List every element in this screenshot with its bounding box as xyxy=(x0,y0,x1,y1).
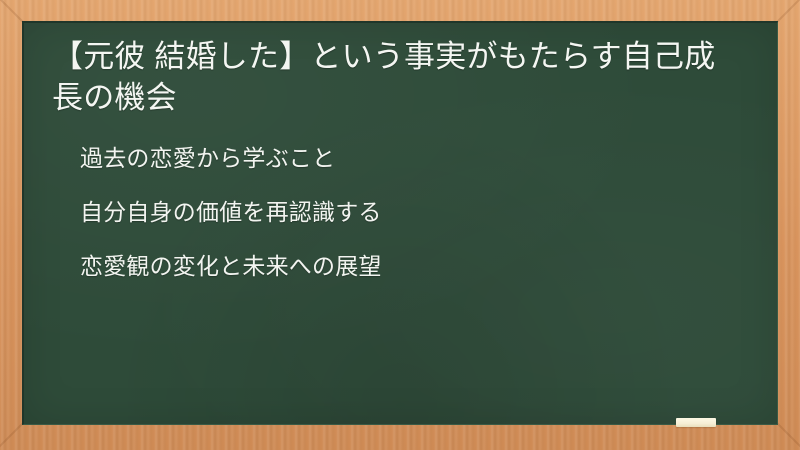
chalkboard-frame: 【元彼 結婚した】という事実がもたらす自己成長の機会 過去の恋愛から学ぶこと 自… xyxy=(0,0,800,450)
chalkboard-content: 【元彼 結婚した】という事実がもたらす自己成長の機会 過去の恋愛から学ぶこと 自… xyxy=(24,23,777,280)
chalkboard-surface: 【元彼 結婚した】という事実がもたらす自己成長の機会 過去の恋愛から学ぶこと 自… xyxy=(22,21,778,425)
slide-points-list: 過去の恋愛から学ぶこと 自分自身の価値を再認識する 恋愛観の変化と未来への展望 xyxy=(52,146,751,280)
slide-point-item: 恋愛観の変化と未来への展望 xyxy=(80,254,751,279)
chalk-stick-icon xyxy=(676,418,716,427)
slide-point-item: 自分自身の価値を再認識する xyxy=(80,200,751,225)
slide-title: 【元彼 結婚した】という事実がもたらす自己成長の機会 xyxy=(52,37,732,119)
slide-point-item: 過去の恋愛から学ぶこと xyxy=(80,146,751,171)
